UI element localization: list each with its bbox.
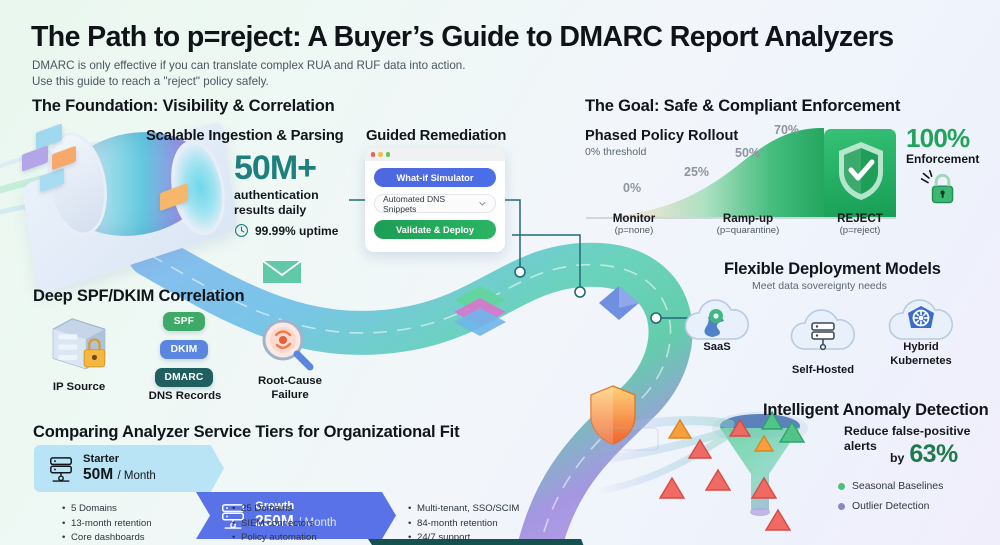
enforcement-block: 100% Enforcement: [906, 124, 979, 166]
what-if-simulator-button[interactable]: What-if Simulator: [374, 168, 496, 187]
correlation-heading: Deep SPF/DKIM Correlation: [33, 287, 244, 306]
tier-starter[interactable]: Starter 50M / Month: [34, 445, 224, 492]
envelope-icon: [22, 145, 48, 171]
phase-rampup-policy: (p=quarantine): [698, 225, 798, 236]
dns-snippets-value: Automated DNS Snippets: [383, 194, 478, 214]
legend-dot-seasonal: [838, 483, 845, 490]
envelope-icon: [36, 123, 62, 149]
alert-triangles: [660, 412, 804, 530]
legend-item-seasonal: Seasonal Baselines: [838, 481, 943, 492]
record-badge-dmarc: DMARC: [155, 368, 213, 387]
tier-enterprise-bullets: Multi-tenant, SSO/SCIM 84-month retentio…: [408, 502, 519, 545]
ingestion-stat-desc-2: results daily: [234, 203, 338, 218]
server-lock-icon: [44, 312, 114, 372]
dns-records-label: DNS Records: [140, 390, 230, 402]
record-badge-dkim: DKIM: [160, 340, 208, 359]
subtitle-line-2: Use this guide to reach a "reject" polic…: [32, 74, 592, 90]
envelope-icon: [52, 146, 76, 171]
window-close-dot[interactable]: [371, 152, 375, 156]
funnel-icon: [712, 412, 808, 516]
root-cause-line-1: Root-Cause: [245, 375, 335, 389]
card-titlebar: [365, 148, 505, 161]
root-cause-label: Root-Cause Failure: [245, 375, 335, 402]
ramp-label-50: 50%: [735, 146, 760, 160]
lock-icon: [918, 168, 958, 213]
anomaly-legend: Seasonal Baselines Outlier Detection: [838, 481, 943, 512]
record-badge-spf: SPF: [163, 312, 205, 331]
deployment-label-self-hosted: Self-Hosted: [774, 364, 872, 378]
remediation-heading: Guided Remediation: [366, 128, 506, 144]
shield-warning-icon: [591, 386, 635, 444]
tier-starter-price: 50M: [83, 466, 113, 483]
legend-item-outlier: Outlier Detection: [838, 501, 943, 512]
ingestion-platform-illustration: [22, 120, 238, 295]
legend-dot-outlier: [838, 503, 845, 510]
list-item: Multi-tenant, SSO/SCIM: [408, 502, 519, 517]
list-item: 24/7 support: [408, 531, 519, 545]
ramp-label-25: 25%: [684, 165, 709, 179]
cloud-server-icon: [786, 305, 860, 362]
phase-reject-policy: (p=reject): [812, 225, 908, 236]
anomaly-desc-line-2: alerts: [844, 439, 877, 453]
ramp-label-70: 70%: [774, 123, 799, 137]
ip-source-label: IP Source: [40, 381, 118, 393]
diamond-node-icon: [599, 286, 639, 320]
rollout-heading: Phased Policy Rollout: [585, 128, 738, 144]
list-item: SIEM connectors: [232, 517, 317, 532]
phase-rampup-name: Ramp-up: [698, 212, 798, 225]
remediation-card: What-if Simulator Automated DNS Snippets…: [365, 148, 505, 252]
deployment-label-hybrid-2: Kubernetes: [872, 355, 970, 369]
deployment-subheading: Meet data sovereignty needs: [752, 280, 887, 292]
rollout-subtitle: 0% threshold: [585, 146, 738, 158]
subtitle-line-1: DMARC is only effective if you can trans…: [32, 58, 592, 74]
tier-starter-name: Starter: [83, 453, 156, 466]
goal-heading: The Goal: Safe & Compliant Enforcement: [585, 97, 900, 116]
enforcement-label: Enforcement: [906, 152, 979, 166]
tunnel-ring-back: [164, 136, 232, 240]
phase-reject-name: REJECT: [812, 212, 908, 225]
tiers-heading: Comparing Analyzer Service Tiers for Org…: [33, 423, 459, 442]
tier-growth-bullets: 25 Domains SIEM connectors Policy automa…: [232, 502, 317, 545]
anomaly-stat-value: 63%: [909, 440, 957, 469]
tunnel-ring-front: [39, 128, 114, 240]
tier-starter-bullets: 5 Domains 13-month retention Core dashbo…: [62, 502, 152, 545]
ingestion-heading: Scalable Ingestion & Parsing: [146, 128, 344, 144]
window-minimize-dot[interactable]: [378, 152, 382, 156]
phase-monitor-policy: (p=none): [588, 225, 680, 236]
root-cause-line-2: Failure: [245, 389, 335, 403]
shield-check-icon: [836, 140, 886, 207]
anomaly-heading: Intelligent Anomaly Detection: [763, 401, 989, 420]
legend-label-seasonal: Seasonal Baselines: [852, 481, 943, 492]
phase-monitor: Monitor (p=none): [588, 212, 680, 236]
deployment-label-hybrid: Hybrid Kubernetes: [872, 341, 970, 368]
phase-monitor-name: Monitor: [588, 212, 680, 225]
magnifier-bug-icon: [255, 315, 317, 380]
window-maximize-dot[interactable]: [386, 152, 390, 156]
legend-label-outlier: Outlier Detection: [852, 501, 929, 512]
anomaly-stat-block: by 63%: [890, 440, 958, 469]
rollout-title: Phased Policy Rollout 0% threshold: [585, 128, 738, 158]
list-item: Core dashboards: [62, 531, 152, 545]
tier-starter-per: / Month: [117, 470, 155, 482]
envelope-node-icon: [263, 261, 301, 283]
uptime-label: 99.99% uptime: [255, 224, 338, 238]
page-title: The Path to p=reject: A Buyer’s Guide to…: [31, 21, 931, 54]
page-subtitle: DMARC is only effective if you can trans…: [32, 58, 592, 89]
enforcement-value: 100%: [906, 124, 979, 152]
ingestion-stat-desc-1: authentication: [234, 188, 338, 203]
phase-reject: REJECT (p=reject): [812, 212, 908, 236]
clock-icon: [234, 223, 249, 238]
deployment-label-saas: SaaS: [668, 341, 766, 355]
anomaly-desc-line-1: Reduce false-positive: [844, 424, 994, 439]
anomaly-stat-prefix: by: [890, 451, 904, 465]
validate-deploy-button[interactable]: Validate & Deploy: [374, 220, 496, 239]
ingestion-stat-value: 50M+: [234, 150, 338, 186]
phase-rampup: Ramp-up (p=quarantine): [698, 212, 798, 236]
list-item: 84-month retention: [408, 517, 519, 532]
data-layers-icon: [454, 286, 506, 336]
chevron-down-icon: [478, 199, 487, 208]
list-item: 25 Domains: [232, 502, 317, 517]
ingestion-stat-block: 50M+ authentication results daily 99.99%…: [234, 150, 338, 238]
list-item: Policy automation: [232, 531, 317, 545]
envelope-icon: [160, 183, 188, 211]
deployment-heading: Flexible Deployment Models: [724, 260, 941, 279]
ramp-label-0: 0%: [623, 181, 641, 195]
infographic-canvas: The Path to p=reject: A Buyer’s Guide to…: [0, 0, 1000, 545]
foundation-heading: The Foundation: Visibility & Correlation: [32, 97, 334, 116]
list-item: 5 Domains: [62, 502, 152, 517]
envelope-icon: [40, 168, 64, 193]
server-stack-icon: [48, 455, 74, 483]
dns-snippets-select[interactable]: Automated DNS Snippets: [374, 194, 496, 213]
deployment-label-hybrid-1: Hybrid: [872, 341, 970, 355]
list-item: 13-month retention: [62, 517, 152, 532]
